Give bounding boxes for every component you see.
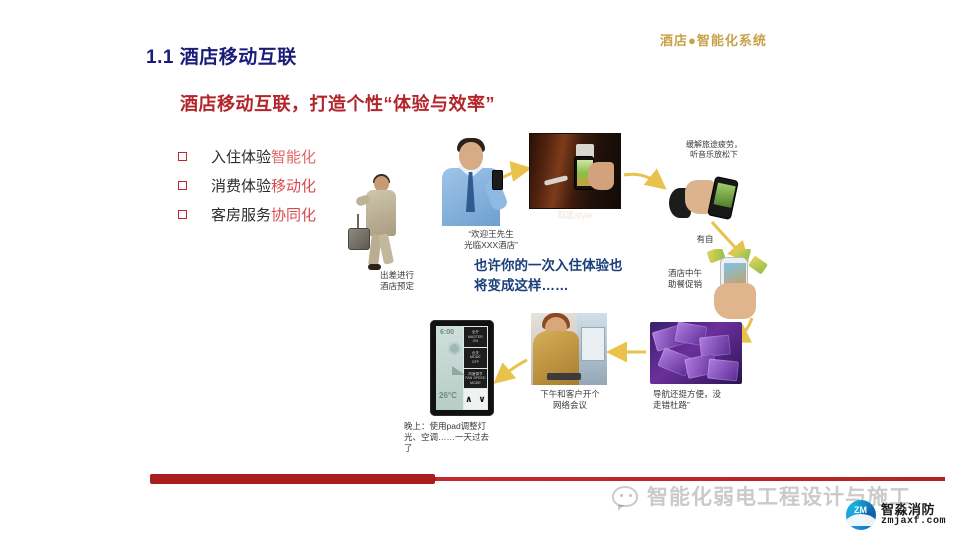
fan-level-icon (452, 366, 465, 375)
list-item: 客房服务 协同化 (178, 201, 316, 227)
logo-website-url: zmjaxf.com (881, 517, 946, 528)
caption-web-conference: 下午和客户开个 网络会议 (528, 389, 612, 411)
photo-web-conference (531, 313, 607, 385)
logo-badge-text: ZM (854, 505, 867, 515)
control-panel-temperature: 26°C (439, 392, 457, 400)
caption-welcome-guest: “欢迎王先生 光临XXX酒店” (440, 229, 542, 251)
square-bullet-icon (178, 152, 187, 161)
center-annotation: 也许你的一次入住体验也 将变成这样…… (474, 256, 623, 295)
photo-welcome-guest (430, 138, 514, 228)
list-item: 消费体验 移动化 (178, 172, 316, 198)
caption-navigation-cards: 导航还挺方便，没 走错杜路” (653, 389, 757, 411)
control-panel-buttons: 全开 MASTER ON 全关 MODE OFF 风速调节 FAN SPEED … (463, 326, 488, 410)
photo-headphone-music (665, 172, 743, 234)
bullet-list: 入住体验 智能化 消费体验 移动化 客房服务 协同化 (178, 143, 316, 230)
control-panel-screen: 6:00 26°C 全开 MASTER ON 全关 MODE OFF 风速调节 (436, 326, 488, 410)
control-panel-status: 6:00 26°C (436, 326, 463, 410)
page-title: 1.1 酒店移动互联 (146, 42, 297, 69)
caption-door-lock-unlock: 取匙style (529, 210, 621, 221)
list-item: 入住体验 智能化 (178, 143, 316, 169)
control-panel-button[interactable]: 全关 MODE OFF (464, 348, 487, 368)
caption-lunch-promotion: 酒店中午 助餐促销 (658, 268, 712, 290)
chevron-down-icon[interactable]: ∨ (478, 394, 485, 405)
center-annotation-line2: 将变成这样…… (474, 276, 623, 296)
caption-pad-room-control: 晚上：使用pad调整灯 光、空调……一天过去 了 (404, 421, 520, 454)
logo-company-name: 智淼消防 (881, 503, 946, 517)
bullet-text: 入住体验 (211, 146, 271, 167)
control-panel-clock: 6:00 (440, 329, 454, 336)
logo-mark-icon: ZM (846, 500, 876, 530)
caption-headphone-music: 缓解旅途疲劳， 听音乐放松下 (663, 140, 765, 161)
wechat-icon (612, 486, 638, 507)
section-subtitle: 酒店移动互联，打造个性“体验与效率” (180, 90, 495, 116)
caption-headphone-music-secondary: 有自 (685, 234, 725, 245)
photo-pad-room-control: 6:00 26°C 全开 MASTER ON 全关 MODE OFF 风速调节 (430, 320, 494, 416)
company-logo: ZM 智淼消防 zmjaxf.com (846, 500, 946, 530)
square-bullet-icon (178, 210, 187, 219)
photo-lunch-promotion (706, 249, 768, 321)
bullet-accent-text: 协同化 (271, 204, 316, 225)
brand-tag: 酒店●智能化系统 (660, 30, 767, 49)
photo-navigation-cards (650, 322, 742, 384)
slide-canvas: 酒店●智能化系统 1.1 酒店移动互联 酒店移动互联，打造个性“体验与效率” 入… (0, 0, 960, 540)
photo-traveler-booking (348, 172, 418, 272)
bullet-accent-text: 移动化 (271, 175, 316, 196)
chevron-up-icon[interactable]: ∧ (465, 394, 472, 405)
bullet-text: 客房服务 (211, 204, 271, 225)
bullet-text: 消费体验 (211, 175, 271, 196)
bullet-accent-text: 智能化 (271, 146, 316, 167)
control-panel-button[interactable]: 全开 MASTER ON (464, 327, 487, 347)
control-panel-button[interactable]: 风速调节 FAN SPEED MODE (464, 369, 487, 389)
caption-traveler-booking: 出差进行 酒店预定 (362, 270, 432, 292)
photo-door-lock-unlock (529, 133, 621, 209)
brightness-icon (450, 344, 459, 353)
control-panel-nav[interactable]: ∧ ∨ (464, 389, 487, 409)
square-bullet-icon (178, 181, 187, 190)
center-annotation-line1: 也许你的一次入住体验也 (474, 256, 623, 276)
